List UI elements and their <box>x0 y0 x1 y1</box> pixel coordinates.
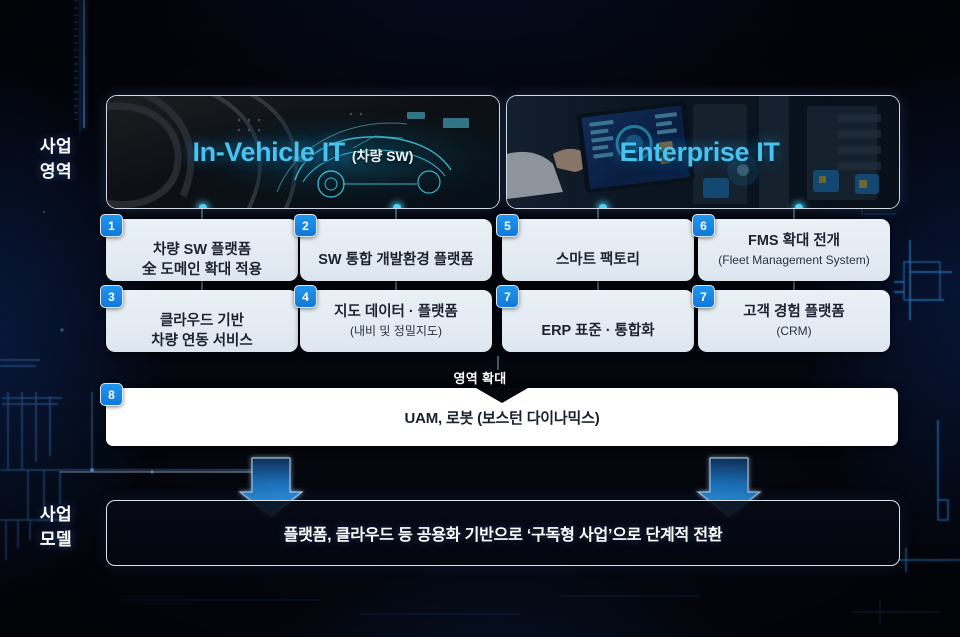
card-sublabel: (Fleet Management System) <box>718 252 869 269</box>
card-label: ERP 표준 · 통합화 <box>531 300 664 341</box>
card-cloud-vehicle-service[interactable]: 3 클라우드 기반차량 연동 서비스 <box>106 290 298 352</box>
slide-canvas: 사업 영역 사업 모델 <box>0 0 960 637</box>
hero-title-text: In-Vehicle IT <box>193 137 345 168</box>
card-sublabel: (CRM) <box>743 323 844 340</box>
card-erp-standardization[interactable]: 7 ERP 표준 · 통합화 <box>502 290 694 352</box>
card-label: SW 통합 개발환경 플랫폼 <box>308 229 484 270</box>
rail-label-business-model: 사업 모델 <box>14 503 98 552</box>
card-vehicle-sw-platform[interactable]: 1 차량 SW 플랫폼全 도메인 확대 적용 <box>106 219 298 281</box>
bar-badge: 8 <box>100 383 123 406</box>
hero-subtitle-text: (차량 SW) <box>352 146 414 166</box>
card-label: FMS 확대 전개 (Fleet Management System) <box>708 211 879 290</box>
connector-dot <box>599 204 607 209</box>
chevron-down-icon <box>476 388 528 403</box>
card-label: 고객 경험 플랫폼 (CRM) <box>733 282 854 361</box>
hero-title-text: Enterprise IT <box>620 137 780 168</box>
card-badge: 4 <box>294 285 317 308</box>
connector-dot <box>393 204 401 209</box>
card-customer-experience-platform[interactable]: 7 고객 경험 플랫폼 (CRM) <box>698 290 890 352</box>
bar-uam-label: UAM, 로봇 (보스턴 다이나믹스) <box>404 407 599 428</box>
card-badge: 3 <box>100 285 123 308</box>
card-badge: 7 <box>692 285 715 308</box>
connector-dot <box>795 204 803 209</box>
card-sublabel: (내비 및 정밀지도) <box>334 323 458 340</box>
card-badge: 6 <box>692 214 715 237</box>
card-map-data-platform[interactable]: 4 지도 데이터 · 플랫폼 (내비 및 정밀지도) <box>300 290 492 352</box>
bar-business-model[interactable]: 플랫폼, 클라우드 등 공용화 기반으로 ‘구독형 사업’으로 단계적 전환 <box>106 500 900 566</box>
expansion-label: 영역 확대 <box>0 368 960 387</box>
card-label: 클라우드 기반차량 연동 서비스 <box>141 290 262 352</box>
card-smart-factory[interactable]: 5 스마트 팩토리 <box>502 219 694 281</box>
bar-business-model-label: 플랫폼, 클라우드 등 공용화 기반으로 ‘구독형 사업’으로 단계적 전환 <box>284 521 723 545</box>
card-label: 스마트 팩토리 <box>546 229 650 270</box>
card-label: 차량 SW 플랫폼全 도메인 확대 적용 <box>132 219 272 281</box>
card-badge: 5 <box>496 214 519 237</box>
card-badge: 7 <box>496 285 519 308</box>
card-badge: 2 <box>294 214 317 237</box>
card-label: 지도 데이터 · 플랫폼 (내비 및 정밀지도) <box>324 282 468 361</box>
hero-card-in-vehicle-it[interactable]: In-Vehicle IT (차량 SW) <box>106 95 500 209</box>
card-badge: 1 <box>100 214 123 237</box>
card-fms-expansion[interactable]: 6 FMS 확대 전개 (Fleet Management System) <box>698 219 890 281</box>
hero-card-enterprise-it[interactable]: Enterprise IT <box>506 95 900 209</box>
rail-label-business-domain: 사업 영역 <box>14 135 98 184</box>
connector-dot <box>199 204 207 209</box>
bar-uam-robotics[interactable]: 8 UAM, 로봇 (보스턴 다이나믹스) <box>106 388 898 446</box>
card-sw-integrated-dev-platform[interactable]: 2 SW 통합 개발환경 플랫폼 <box>300 219 492 281</box>
